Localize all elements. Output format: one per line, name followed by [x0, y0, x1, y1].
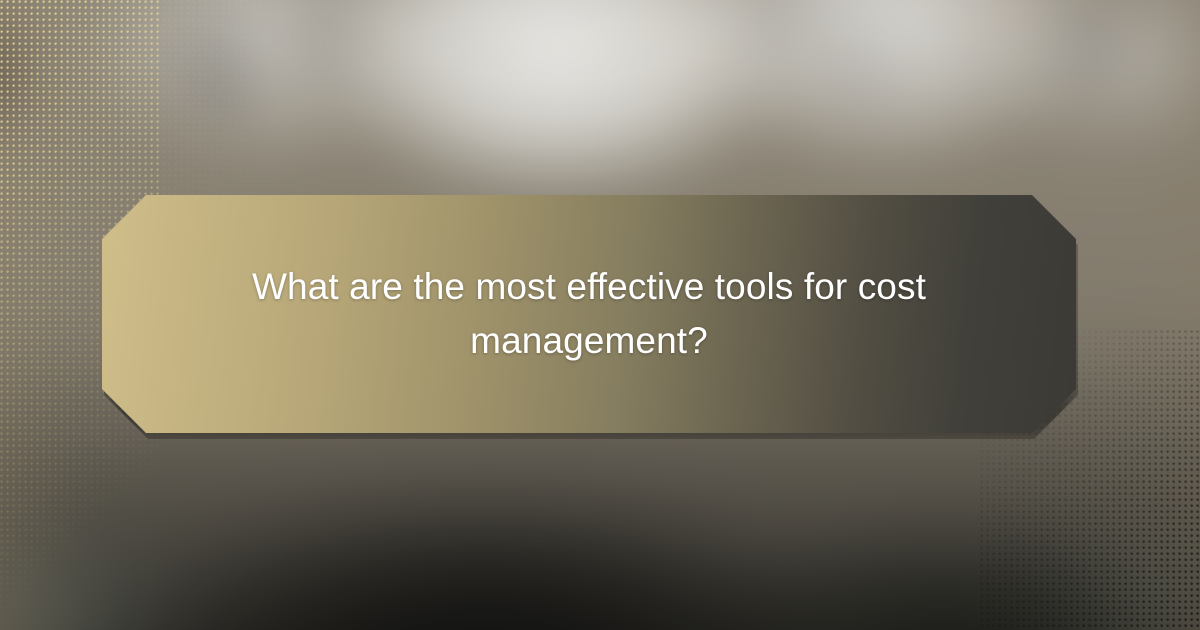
- question-text: What are the most effective tools for co…: [209, 260, 969, 369]
- question-card-banner: What are the most effective tools for co…: [0, 0, 1200, 630]
- question-card: What are the most effective tools for co…: [102, 195, 1076, 433]
